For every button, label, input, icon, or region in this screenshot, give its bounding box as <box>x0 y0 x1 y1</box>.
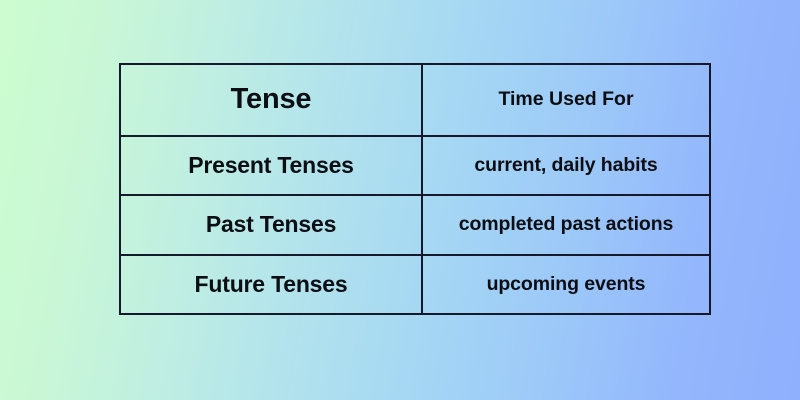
cell-tense-future: Future Tenses <box>120 255 422 314</box>
cell-time-future: upcoming events <box>422 255 710 314</box>
cell-time-past: completed past actions <box>422 195 710 254</box>
table-header-row: Tense Time Used For <box>120 64 710 136</box>
page-background: Tense Time Used For Present Tenses curre… <box>0 0 800 400</box>
table-row: Future Tenses upcoming events <box>120 255 710 314</box>
column-header-time-used-for: Time Used For <box>422 64 710 136</box>
table-row: Present Tenses current, daily habits <box>120 136 710 195</box>
cell-time-present: current, daily habits <box>422 136 710 195</box>
tense-reference-table: Tense Time Used For Present Tenses curre… <box>119 63 711 315</box>
tense-table-container: Tense Time Used For Present Tenses curre… <box>119 63 709 315</box>
table-row: Past Tenses completed past actions <box>120 195 710 254</box>
cell-tense-past: Past Tenses <box>120 195 422 254</box>
cell-tense-present: Present Tenses <box>120 136 422 195</box>
column-header-tense: Tense <box>120 64 422 136</box>
